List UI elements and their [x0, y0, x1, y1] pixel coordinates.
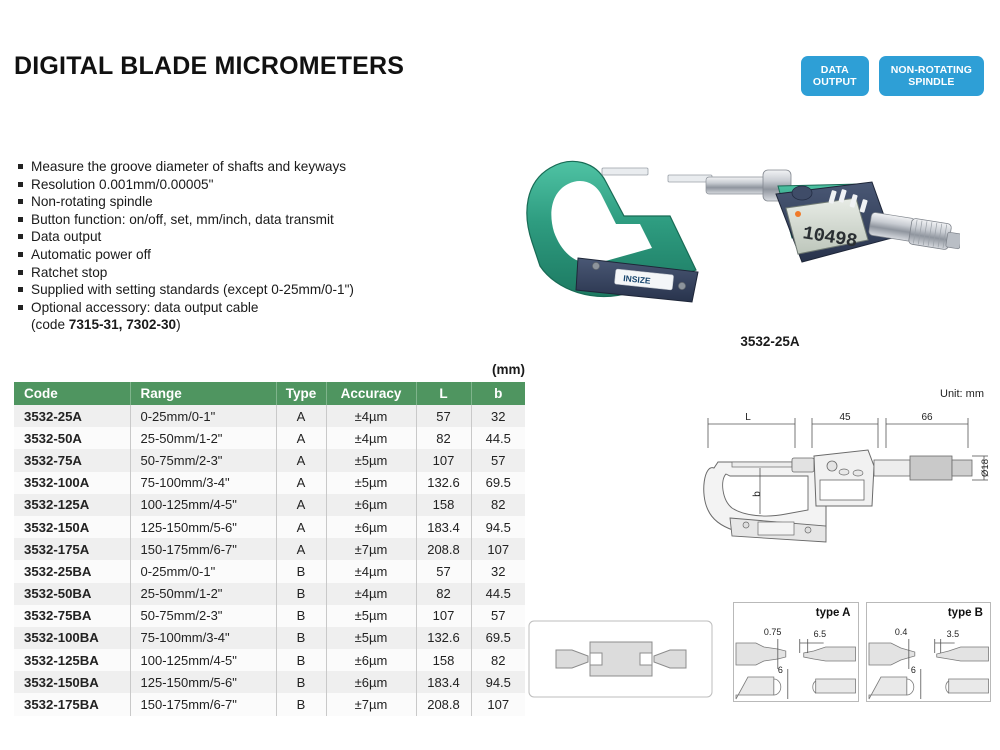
cell-accuracy: ±7µm [326, 693, 416, 715]
table-row[interactable]: 3532-50BA25-50mm/1-2"B±4µm8244.5 [14, 583, 525, 605]
code-suffix: ) [176, 317, 181, 332]
cell-accuracy: ±5µm [326, 605, 416, 627]
button-outline [839, 469, 849, 475]
blade-side-view [868, 643, 914, 665]
cell-accuracy: ±6µm [326, 494, 416, 516]
cell-code: 3532-175BA [14, 693, 130, 715]
cell-b: 94.5 [471, 516, 525, 538]
datasheet-page: DIGITAL BLADE MICROMETERS DATA OUTPUT NO… [0, 0, 1000, 750]
dim-label-L: L [745, 412, 751, 423]
thimble-outline [910, 456, 952, 480]
cell-code: 3532-150BA [14, 671, 130, 693]
ratchet-stop [946, 232, 960, 249]
cell-type: B [276, 649, 326, 671]
cell-code: 3532-125A [14, 494, 130, 516]
cell-l: 183.4 [416, 671, 471, 693]
cell-code: 3532-25BA [14, 560, 130, 582]
cell-l: 82 [416, 583, 471, 605]
feature-text: Measure the groove diameter of shafts an… [31, 158, 448, 176]
cell-code: 3532-150A [14, 516, 130, 538]
cell-b: 57 [471, 605, 525, 627]
cell-type: A [276, 494, 326, 516]
cell-code: 3532-175A [14, 538, 130, 560]
blade-type-panels: type A 0.75 6.5 6 [733, 602, 991, 702]
cell-range: 25-50mm/1-2" [130, 427, 276, 449]
cell-type: A [276, 472, 326, 494]
square-bullet-icon [18, 164, 23, 169]
blade-round-tip [906, 679, 913, 695]
cell-range: 25-50mm/1-2" [130, 583, 276, 605]
base-label-outline [758, 522, 794, 535]
badge-line-1: DATA [813, 64, 857, 76]
cell-accuracy: ±5µm [326, 627, 416, 649]
groove-left [590, 653, 602, 665]
feature-text: Supplied with setting standards (except … [31, 281, 448, 299]
square-bullet-icon [18, 234, 23, 239]
cell-b: 107 [471, 693, 525, 715]
cell-code: 3532-25A [14, 405, 130, 427]
table-unit-label: (mm) [14, 362, 525, 377]
table-row[interactable]: 3532-50A25-50mm/1-2"A±4µm8244.5 [14, 427, 525, 449]
cell-range: 125-150mm/5-6" [130, 516, 276, 538]
blade-front-view-2 [816, 679, 856, 693]
ratchet-outline [952, 460, 972, 476]
badge-line-2: OUTPUT [813, 76, 857, 88]
blade-width-label: 6.5 [814, 629, 826, 639]
cell-l: 132.6 [416, 472, 471, 494]
dim-label-66: 66 [921, 412, 933, 423]
square-bullet-icon [18, 182, 23, 187]
feature-subline: (code 7315-31, 7302-30) [31, 316, 448, 334]
table-row[interactable]: 3532-150A125-150mm/5-6"A±6µm183.494.5 [14, 516, 525, 538]
cell-type: B [276, 671, 326, 693]
cell-l: 183.4 [416, 516, 471, 538]
cell-accuracy: ±4µm [326, 560, 416, 582]
cell-b: 69.5 [471, 472, 525, 494]
cell-range: 150-175mm/6-7" [130, 538, 276, 560]
cell-b: 57 [471, 449, 525, 471]
accessory-codes: 7315-31, 7302-30 [69, 317, 176, 332]
cell-accuracy: ±4µm [326, 427, 416, 449]
feature-item: Non-rotating spindle [18, 193, 448, 211]
cell-type: A [276, 516, 326, 538]
cell-b: 32 [471, 560, 525, 582]
cell-type: A [276, 449, 326, 471]
cell-l: 57 [416, 560, 471, 582]
feature-text: Ratchet stop [31, 264, 448, 282]
blade-tip-view [804, 647, 856, 661]
feature-item: Ratchet stop [18, 264, 448, 282]
square-bullet-icon [18, 270, 23, 275]
screw-right-icon [678, 282, 685, 289]
table-row[interactable]: 3532-125BA100-125mm/4-5"B±6µm15882 [14, 649, 525, 671]
badge-line-1: NON-ROTATING [891, 64, 972, 76]
micrometer-line-drawing: L 45 66 b [700, 402, 992, 552]
specification-table: Code Range Type Accuracy L b 3532-25A0-2… [14, 382, 525, 716]
blade-front-view [868, 677, 906, 699]
blade-thickness-label: 0.4 [894, 627, 906, 637]
feature-text: Non-rotating spindle [31, 193, 448, 211]
cell-type: B [276, 627, 326, 649]
feature-text: Automatic power off [31, 246, 448, 264]
blade-front-view [736, 677, 774, 699]
dim-label-diameter: Ø18 [980, 459, 991, 477]
power-indicator-icon [795, 211, 801, 217]
table-body: 3532-25A0-25mm/0-1"A±4µm57323532-50A25-5… [14, 405, 525, 716]
code-prefix: (code [31, 317, 69, 332]
cell-range: 50-75mm/2-3" [130, 605, 276, 627]
feature-text: Resolution 0.001mm/0.00005" [31, 176, 448, 194]
dim-label-45: 45 [839, 412, 851, 423]
cell-code: 3532-50A [14, 427, 130, 449]
spindle-blade [668, 175, 712, 182]
blade-round-tip-2 [945, 681, 948, 693]
cell-l: 57 [416, 405, 471, 427]
table-row[interactable]: 3532-100BA75-100mm/3-4"B±5µm132.669.5 [14, 627, 525, 649]
cell-accuracy: ±6µm [326, 516, 416, 538]
feature-text: Button function: on/off, set, mm/inch, d… [31, 211, 448, 229]
cell-accuracy: ±5µm [326, 449, 416, 471]
table-row[interactable]: 3532-75A50-75mm/2-3"A±5µm10757 [14, 449, 525, 471]
unit-note: Unit: mm [940, 388, 984, 400]
cell-code: 3532-125BA [14, 649, 130, 671]
cell-type: B [276, 583, 326, 605]
table-row[interactable]: 3532-75BA50-75mm/2-3"B±5µm10757 [14, 605, 525, 627]
spindle-outline [792, 458, 814, 472]
column-header-range: Range [130, 382, 276, 405]
spindle-shaft [706, 177, 768, 194]
feature-item: Data output [18, 228, 448, 246]
cell-l: 208.8 [416, 538, 471, 560]
cell-range: 75-100mm/3-4" [130, 472, 276, 494]
screw-icon [805, 527, 811, 533]
table-row[interactable]: 3532-125A100-125mm/4-5"A±6µm15882 [14, 494, 525, 516]
blade-depth-label: 6 [910, 665, 915, 675]
table-header-row: Code Range Type Accuracy L b [14, 382, 525, 405]
cell-type: B [276, 693, 326, 715]
anvil-blade [602, 168, 648, 175]
table-row[interactable]: 3532-25BA0-25mm/0-1"B±4µm5732 [14, 560, 525, 582]
feature-badge-group: DATA OUTPUT NON-ROTATING SPINDLE [801, 56, 984, 96]
cell-accuracy: ±6µm [326, 649, 416, 671]
cell-code: 3532-50BA [14, 583, 130, 605]
cell-range: 75-100mm/3-4" [130, 627, 276, 649]
clamp-outline [827, 461, 837, 471]
cell-code: 3532-75BA [14, 605, 130, 627]
application-diagram [528, 620, 713, 698]
feature-item: Button function: on/off, set, mm/inch, d… [18, 211, 448, 229]
blade-round-tip [774, 679, 781, 695]
feature-item: Supplied with setting standards (except … [18, 281, 448, 299]
blade-tip-view [936, 647, 988, 661]
cell-l: 208.8 [416, 693, 471, 715]
type-a-label: type A [816, 607, 851, 619]
blade-outline [732, 462, 792, 467]
groove-right [640, 653, 652, 665]
cell-l: 82 [416, 427, 471, 449]
blade-width-label: 3.5 [946, 629, 958, 639]
column-header-l: L [416, 382, 471, 405]
cell-range: 125-150mm/5-6" [130, 671, 276, 693]
dimension-drawing: Unit: mm L 45 66 [700, 388, 992, 553]
sleeve-outline [874, 460, 910, 476]
cell-accuracy: ±4µm [326, 583, 416, 605]
frame-inner-outline [723, 474, 808, 516]
feature-text: Optional accessory: data output cable [31, 299, 448, 317]
cell-b: 82 [471, 649, 525, 671]
screw-icon [743, 522, 749, 528]
cell-b: 94.5 [471, 671, 525, 693]
button-outline [853, 470, 863, 476]
column-header-b: b [471, 382, 525, 405]
column-header-accuracy: Accuracy [326, 382, 416, 405]
blade-depth-label: 6 [778, 665, 783, 675]
feature-item: Measure the groove diameter of shafts an… [18, 158, 448, 176]
cell-type: B [276, 605, 326, 627]
table-row[interactable]: 3532-100A75-100mm/3-4"A±5µm132.669.5 [14, 472, 525, 494]
badge-line-2: SPINDLE [891, 76, 972, 88]
micrometer-illustration: 10498 [520, 120, 960, 320]
type-b-panel: type B 0.4 3.5 6 [866, 602, 992, 702]
cell-l: 107 [416, 449, 471, 471]
screw-left-icon [592, 262, 599, 269]
blade-front-view-2 [948, 679, 988, 693]
feature-item: Optional accessory: data output cable [18, 299, 448, 317]
cell-type: B [276, 560, 326, 582]
type-a-panel: type A 0.75 6.5 6 [733, 602, 859, 702]
cell-type: A [276, 405, 326, 427]
cell-code: 3532-100BA [14, 627, 130, 649]
photo-caption: 3532-25A [640, 334, 900, 349]
groove-measurement-illustration [528, 620, 713, 698]
cell-type: A [276, 427, 326, 449]
cell-range: 100-125mm/4-5" [130, 494, 276, 516]
blade-side-view [736, 643, 786, 665]
type-b-label: type B [948, 607, 983, 619]
badge-non-rotating-spindle: NON-ROTATING SPINDLE [879, 56, 984, 96]
cell-type: A [276, 538, 326, 560]
square-bullet-icon [18, 217, 23, 222]
lcd-outline [820, 480, 864, 500]
cell-b: 82 [471, 494, 525, 516]
table-row[interactable]: 3532-175BA150-175mm/6-7"B±7µm208.8107 [14, 693, 525, 715]
cell-range: 100-125mm/4-5" [130, 649, 276, 671]
square-bullet-icon [18, 287, 23, 292]
column-header-code: Code [14, 382, 130, 405]
cell-b: 69.5 [471, 627, 525, 649]
cell-accuracy: ±6µm [326, 671, 416, 693]
cell-b: 44.5 [471, 583, 525, 605]
feature-item: Automatic power off [18, 246, 448, 264]
cell-b: 32 [471, 405, 525, 427]
badge-data-output: DATA OUTPUT [801, 56, 869, 96]
product-photo: 10498 [520, 120, 960, 320]
cell-range: 150-175mm/6-7" [130, 693, 276, 715]
page-title: DIGITAL BLADE MICROMETERS [14, 52, 404, 81]
cell-range: 50-75mm/2-3" [130, 449, 276, 471]
cell-b: 107 [471, 538, 525, 560]
cell-l: 158 [416, 649, 471, 671]
table-row[interactable]: 3532-25A0-25mm/0-1"A±4µm5732 [14, 405, 525, 427]
column-header-type: Type [276, 382, 326, 405]
cell-l: 132.6 [416, 627, 471, 649]
feature-item: Resolution 0.001mm/0.00005" [18, 176, 448, 194]
thimble-clamp [792, 186, 812, 200]
cell-code: 3532-75A [14, 449, 130, 471]
table-row[interactable]: 3532-175A150-175mm/6-7"A±7µm208.8107 [14, 538, 525, 560]
cell-range: 0-25mm/0-1" [130, 405, 276, 427]
feature-text: Data output [31, 228, 448, 246]
square-bullet-icon [18, 305, 23, 310]
cell-accuracy: ±4µm [326, 405, 416, 427]
feature-list: Measure the groove diameter of shafts an… [18, 158, 448, 334]
blade-thickness-label: 0.75 [764, 627, 781, 637]
cell-l: 158 [416, 494, 471, 516]
square-bullet-icon [18, 252, 23, 257]
cell-code: 3532-100A [14, 472, 130, 494]
cell-b: 44.5 [471, 427, 525, 449]
dim-label-b: b [752, 491, 763, 497]
cell-accuracy: ±7µm [326, 538, 416, 560]
cell-accuracy: ±5µm [326, 472, 416, 494]
cell-l: 107 [416, 605, 471, 627]
table-row[interactable]: 3532-150BA125-150mm/5-6"B±6µm183.494.5 [14, 671, 525, 693]
blade-round-tip-2 [813, 681, 816, 693]
thimble [908, 218, 952, 250]
cell-range: 0-25mm/0-1" [130, 560, 276, 582]
square-bullet-icon [18, 199, 23, 204]
